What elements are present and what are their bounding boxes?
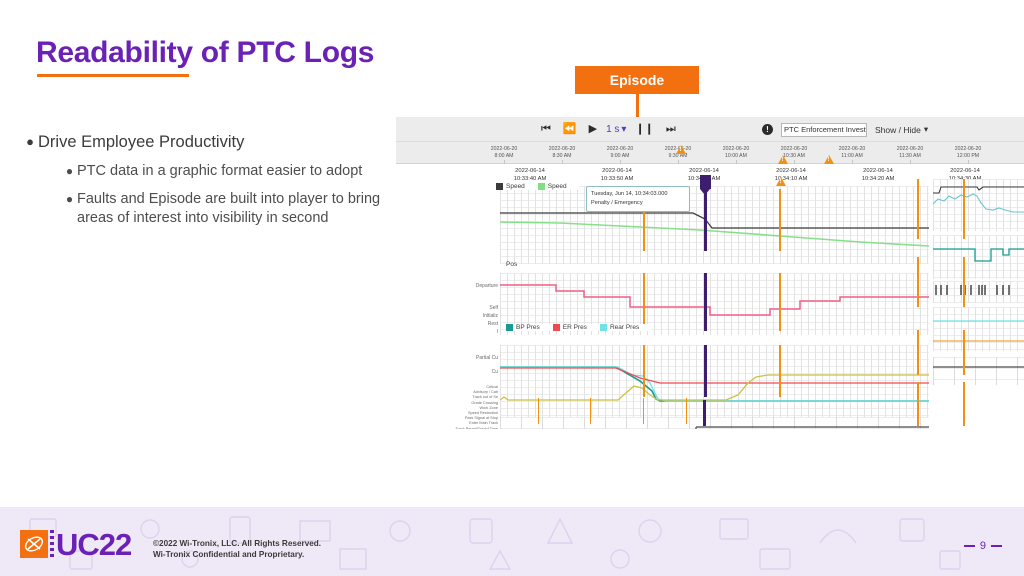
axis-label: Partial Cu bbox=[448, 355, 498, 361]
copyright-line2: Wi-Tronix Confidential and Proprietary. bbox=[153, 549, 321, 560]
speed-panel-right[interactable] bbox=[933, 179, 1024, 231]
event-line-7 bbox=[779, 345, 781, 397]
dataset-select[interactable]: PTC Enforcement Invest ▾ bbox=[781, 123, 867, 137]
ruler-tick-time: 10:33:50 AM bbox=[588, 175, 646, 183]
event-line-5 bbox=[779, 189, 781, 251]
uc22-brand: UC22 bbox=[56, 527, 131, 563]
ruler-tick-date: 2022-06-14 bbox=[675, 167, 733, 175]
event-line-3 bbox=[643, 345, 645, 397]
ruler-tick-date: 2022-06-20 bbox=[881, 146, 939, 153]
legend-swatch-icon bbox=[506, 324, 513, 331]
ruler-top-tick: 2022-06-208:00 AM bbox=[475, 146, 533, 160]
legend-item-speed-green: Speed bbox=[538, 183, 567, 190]
axis-label: I bbox=[484, 329, 498, 335]
logo-divider bbox=[50, 530, 54, 558]
event-line-right-7 bbox=[917, 382, 919, 426]
position-panel-right[interactable] bbox=[933, 235, 1024, 279]
legend-label: Speed bbox=[506, 183, 525, 190]
ruler-top-tick: 2022-06-2011:30 AM bbox=[881, 146, 939, 160]
axis-label: Initializ bbox=[456, 313, 498, 319]
warning-triangle-icon[interactable] bbox=[778, 155, 788, 164]
pause-icon[interactable]: ❙❙ bbox=[630, 117, 658, 142]
event-axis-label: Track Permit/Track&Time bbox=[396, 427, 498, 429]
speed-legend: Speed Speed bbox=[496, 183, 579, 190]
event-line-right-5 bbox=[917, 330, 919, 375]
legend-label: ER Pres bbox=[563, 324, 587, 331]
event-line-10 bbox=[538, 398, 539, 424]
ruler-detail-tick: 2022-06-1410:34:10 AM bbox=[762, 167, 820, 183]
playback-speed-value: 1 s bbox=[606, 124, 619, 135]
event-bars bbox=[933, 281, 1024, 303]
bullet-level2-text: Faults and Episode are built into player… bbox=[77, 190, 412, 228]
speed-panel[interactable] bbox=[500, 186, 929, 264]
warning-triangle-icon[interactable] bbox=[776, 177, 786, 186]
event-line-right-8 bbox=[963, 382, 965, 426]
show-hide-menu[interactable]: Show / Hide ▾ bbox=[875, 124, 928, 135]
sub-bullet-list: ● PTC data in a graphic format easier to… bbox=[62, 162, 412, 228]
ruler-tick-date: 2022-06-14 bbox=[588, 167, 646, 175]
ruler-tick-time: 11:30 AM bbox=[881, 153, 939, 160]
tooltip-timestamp: Tuesday, Jun 14, 10:34:03.000 bbox=[591, 190, 685, 199]
ruler-detail-tick: 2022-06-1410:33:40 AM bbox=[501, 167, 559, 183]
playhead-line-pressure bbox=[704, 345, 707, 397]
ruler-tick-date: 2022-06-14 bbox=[936, 167, 994, 175]
axis-label: Rest bbox=[466, 321, 498, 327]
axis-label: Cu bbox=[478, 369, 498, 375]
bullet-level1: ● Drive Employee Productivity bbox=[22, 131, 412, 153]
ruler-tick-time: 9:30 AM bbox=[649, 153, 707, 160]
speed-traces bbox=[500, 186, 929, 264]
page-dash-left-icon bbox=[964, 545, 975, 547]
info-icon[interactable]: ! bbox=[762, 124, 773, 135]
show-hide-label: Show / Hide bbox=[875, 125, 921, 135]
event-line-2 bbox=[643, 273, 645, 331]
axis-label: Departure bbox=[442, 283, 498, 289]
bullet-level2-text: PTC data in a graphic format easier to a… bbox=[77, 162, 362, 181]
ruler-tick-time: 10:30 AM bbox=[765, 153, 823, 160]
ruler-tick-time: 10:34:10 AM bbox=[762, 175, 820, 183]
bullet-level2: ● PTC data in a graphic format easier to… bbox=[62, 162, 412, 181]
ruler-top-tick: 2022-06-2010:00 AM bbox=[707, 146, 765, 160]
ruler-tick-date: 2022-06-20 bbox=[533, 146, 591, 153]
bullet-level1-text: Drive Employee Productivity bbox=[38, 131, 244, 153]
toolbar-right-group: ! PTC Enforcement Invest ▾ Show / Hide ▾ bbox=[762, 117, 928, 142]
ruler-tick-date: 2022-06-14 bbox=[762, 167, 820, 175]
event-line-right-4 bbox=[963, 257, 965, 307]
pressure-panel[interactable] bbox=[500, 345, 929, 419]
ruler-tick-time: 8:30 AM bbox=[533, 153, 591, 160]
warning-triangle-icon[interactable] bbox=[824, 155, 834, 164]
step-back-icon[interactable]: ⏪ bbox=[558, 117, 582, 142]
legend-swatch-icon bbox=[600, 324, 607, 331]
skip-forward-icon[interactable]: ⏭ bbox=[661, 117, 681, 142]
wi-tronix-logo-icon bbox=[20, 530, 48, 558]
chevron-down-icon: ▾ bbox=[866, 125, 867, 134]
legend-item-speed-black: Speed bbox=[496, 183, 525, 190]
ruler-tick-date: 2022-06-20 bbox=[591, 146, 649, 153]
ruler-tick-date: 2022-06-20 bbox=[475, 146, 533, 153]
ruler-detail-tick: 2022-06-1410:34:20 AM bbox=[849, 167, 907, 183]
playback-speed-select[interactable]: 1 s ▾ bbox=[604, 124, 628, 135]
legend-label: Speed bbox=[548, 183, 567, 190]
legend-item-bp-pres: BP Pres bbox=[506, 324, 540, 331]
events-panel[interactable] bbox=[500, 417, 929, 429]
playhead-line-position bbox=[704, 273, 707, 331]
ptc-player-screenshot: ⏮ ⏪ ▶ 1 s ▾ ❙❙ ⏭ ! PTC Enforcement Inves… bbox=[396, 117, 1024, 429]
ruler-top-tick: 2022-06-2010:30 AM bbox=[765, 146, 823, 160]
bullet-list: ● Drive Employee Productivity ● PTC data… bbox=[22, 131, 412, 237]
copyright-line1: ©2022 Wi-Tronix, LLC. All Rights Reserve… bbox=[153, 538, 321, 549]
speed-traces-right bbox=[933, 179, 1024, 231]
bullet-level2: ● Faults and Episode are built into play… bbox=[62, 190, 412, 228]
pressure-panel-right[interactable] bbox=[933, 307, 1024, 351]
ruler-top-tick: 2022-06-208:30 AM bbox=[533, 146, 591, 160]
tooltip-event-type: Penalty / Emergency bbox=[591, 199, 685, 208]
page-number-value: 9 bbox=[980, 540, 986, 552]
ruler-top-tick: 2022-06-209:00 AM bbox=[591, 146, 649, 160]
warning-triangle-icon[interactable] bbox=[676, 145, 686, 154]
legend-swatch-icon bbox=[496, 183, 503, 190]
event-line-right-3 bbox=[917, 257, 919, 307]
title-underline bbox=[37, 74, 189, 77]
position-trace-right bbox=[933, 235, 1024, 279]
position-panel-title: Pos bbox=[506, 261, 517, 268]
legend-item-er-pres: ER Pres bbox=[553, 324, 587, 331]
ruler-tick-time: 10:34:20 AM bbox=[849, 175, 907, 183]
ruler-tick-time: 8:00 AM bbox=[475, 153, 533, 160]
event-line-8 bbox=[686, 398, 687, 424]
legend-swatch-icon bbox=[553, 324, 560, 331]
skip-back-icon[interactable]: ⏮ bbox=[536, 117, 556, 142]
event-line-6 bbox=[779, 273, 781, 331]
event-line-right-1 bbox=[917, 179, 919, 239]
playhead-handle[interactable] bbox=[700, 175, 711, 189]
ruler-tick-date: 2022-06-20 bbox=[765, 146, 823, 153]
transport-controls: ⏮ ⏪ ▶ 1 s ▾ ❙❙ ⏭ bbox=[536, 117, 681, 142]
event-line-9 bbox=[590, 398, 591, 424]
chevron-down-icon: ▾ bbox=[924, 124, 928, 135]
episode-callout-label: Episode bbox=[575, 66, 699, 94]
ruler-tick-time: 10:00 AM bbox=[707, 153, 765, 160]
player-toolbar: ⏮ ⏪ ▶ 1 s ▾ ❙❙ ⏭ ! PTC Enforcement Inves… bbox=[396, 117, 1024, 142]
ruler-tick-time: 12:00 PM bbox=[939, 153, 997, 160]
legend-label: Rear Pres bbox=[610, 324, 639, 331]
timeline-ruler-top[interactable]: 2022-06-208:00 AM2022-06-208:30 AM2022-0… bbox=[396, 142, 1024, 164]
event-line-4 bbox=[643, 398, 644, 424]
legend-swatch-icon bbox=[538, 183, 545, 190]
events-step-right bbox=[933, 357, 1024, 385]
bullet-marker-icon: ● bbox=[22, 131, 38, 152]
page-title: Readability of PTC Logs bbox=[36, 36, 374, 70]
ruler-tick-date: 2022-06-14 bbox=[501, 167, 559, 175]
playhead-line-speed bbox=[704, 189, 707, 251]
bullet-marker-icon: ● bbox=[62, 162, 77, 181]
event-line-right-6 bbox=[963, 330, 965, 375]
page-number: 9 bbox=[964, 540, 1002, 552]
ruler-tick-date: 2022-06-20 bbox=[939, 146, 997, 153]
axis-label: Self bbox=[462, 305, 498, 311]
playhead-line-events bbox=[703, 400, 706, 426]
ruler-tick-date: 2022-06-20 bbox=[823, 146, 881, 153]
pressure-traces bbox=[500, 345, 929, 419]
dataset-select-value: PTC Enforcement Invest bbox=[784, 125, 866, 134]
chevron-down-icon: ▾ bbox=[621, 124, 626, 135]
ruler-tick-time: 10:33:40 AM bbox=[501, 175, 559, 183]
copyright-text: ©2022 Wi-Tronix, LLC. All Rights Reserve… bbox=[153, 538, 321, 560]
page-dash-right-icon bbox=[991, 545, 1002, 547]
pressure-traces-right bbox=[933, 307, 1024, 351]
events-panel-right[interactable] bbox=[933, 357, 1024, 385]
event-tooltip: Tuesday, Jun 14, 10:34:03.000 Penalty / … bbox=[586, 186, 690, 212]
play-icon[interactable]: ▶ bbox=[584, 117, 602, 142]
bullet-marker-icon: ● bbox=[62, 190, 77, 209]
ruler-detail-tick: 2022-06-1410:33:50 AM bbox=[588, 167, 646, 183]
legend-label: BP Pres bbox=[516, 324, 540, 331]
events-step bbox=[500, 417, 929, 429]
event-line-right-2 bbox=[963, 179, 965, 239]
ruler-tick-date: 2022-06-14 bbox=[849, 167, 907, 175]
event-bars-panel[interactable] bbox=[933, 281, 1024, 303]
ruler-top-tick: 2022-06-2012:00 PM bbox=[939, 146, 997, 160]
ruler-tick-date: 2022-06-20 bbox=[707, 146, 765, 153]
ruler-tick-time: 9:00 AM bbox=[591, 153, 649, 160]
pressure-legend: BP Pres ER Pres Rear Pres bbox=[506, 324, 651, 331]
legend-item-rear-pres: Rear Pres bbox=[600, 324, 639, 331]
